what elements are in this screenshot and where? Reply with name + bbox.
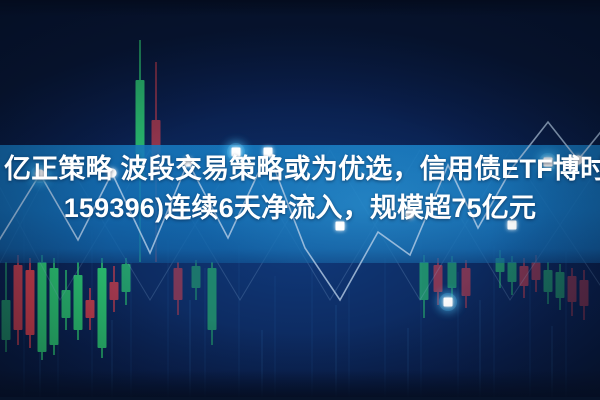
top-edge-shade (0, 0, 600, 16)
bottom-edge-shade (0, 370, 600, 400)
headline-line-2: 159396)连续6天净流入，规模超75亿元 (0, 189, 600, 228)
headline-line-1: 亿正策略 波段交易策略或为优选，信用债ETF博时( (0, 150, 600, 189)
news-banner-image: 亿正策略 波段交易策略或为优选，信用债ETF博时( 159396)连续6天净流入… (0, 0, 600, 400)
headline-text: 亿正策略 波段交易策略或为优选，信用债ETF博时( 159396)连续6天净流入… (0, 150, 600, 228)
